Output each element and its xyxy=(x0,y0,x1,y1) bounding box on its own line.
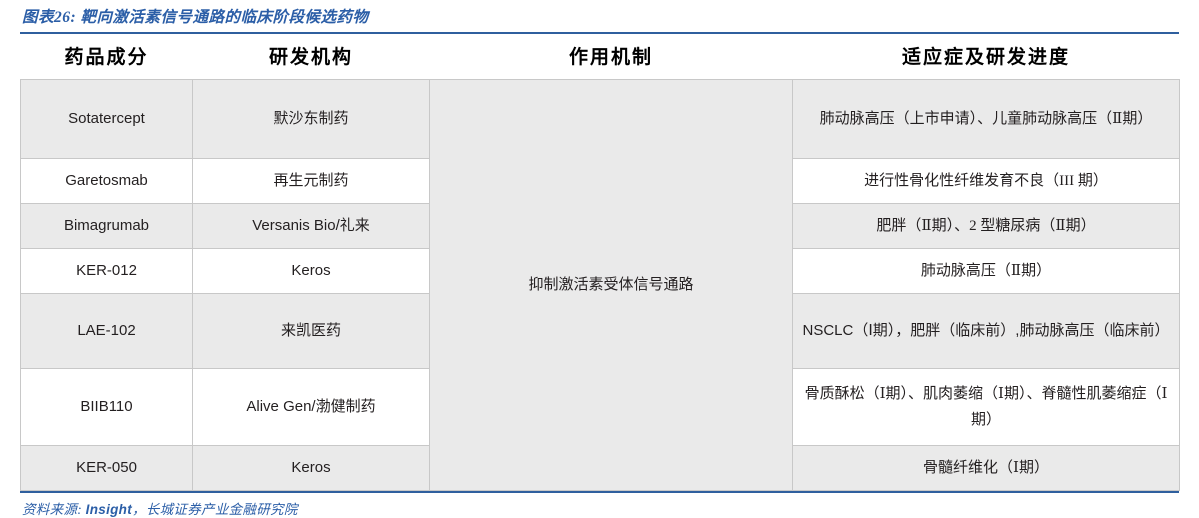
source-suffix: ，长城证券产业金融研究院 xyxy=(132,502,298,517)
cell-company: Keros xyxy=(193,249,430,294)
cell-drug: BIIB110 xyxy=(21,369,193,446)
cell-drug: Sotatercept xyxy=(21,80,193,159)
table-header-row: 药品成分 研发机构 作用机制 适应症及研发进度 xyxy=(21,34,1180,80)
column-header-drug: 药品成分 xyxy=(21,34,193,80)
cell-company: 再生元制药 xyxy=(193,159,430,204)
figure-caption: 图表26: 靶向激活素信号通路的临床阶段候选药物 xyxy=(20,0,1179,28)
cell-indication: 肺动脉高压（上市申请）、儿童肺动脉高压（Ⅱ期） xyxy=(793,80,1180,159)
cell-company: 来凯医药 xyxy=(193,294,430,369)
cell-drug: LAE-102 xyxy=(21,294,193,369)
cell-company: Alive Gen/渤健制药 xyxy=(193,369,430,446)
source-prefix: 资料来源: xyxy=(22,502,86,517)
column-header-indication: 适应症及研发进度 xyxy=(793,34,1180,80)
cell-indication: 进行性骨化性纤维发育不良（III 期） xyxy=(793,159,1180,204)
cell-indication: NSCLC（Ⅰ期），肥胖（临床前）,肺动脉高压（临床前） xyxy=(793,294,1180,369)
column-header-mechanism: 作用机制 xyxy=(430,34,793,80)
cell-indication: 骨髓纤维化（Ⅰ期） xyxy=(793,446,1180,491)
cell-company: 默沙东制药 xyxy=(193,80,430,159)
table-row: Sotatercept 默沙东制药 抑制激活素受体信号通路 肺动脉高压（上市申请… xyxy=(21,80,1180,159)
cell-indication: 骨质酥松（Ⅰ期）、肌肉萎缩（Ⅰ期）、脊髓性肌萎缩症（Ⅰ期） xyxy=(793,369,1180,446)
cell-drug: Bimagrumab xyxy=(21,204,193,249)
cell-drug: KER-050 xyxy=(21,446,193,491)
source-line: 资料来源: Insight，长城证券产业金融研究院 xyxy=(20,493,1179,518)
cell-mechanism-merged: 抑制激活素受体信号通路 xyxy=(430,80,793,491)
cell-drug: Garetosmab xyxy=(21,159,193,204)
cell-company: Versanis Bio/礼来 xyxy=(193,204,430,249)
column-header-company: 研发机构 xyxy=(193,34,430,80)
cell-indication: 肺动脉高压（Ⅱ期） xyxy=(793,249,1180,294)
cell-indication: 肥胖（Ⅱ期）、2 型糖尿病（Ⅱ期） xyxy=(793,204,1180,249)
source-name: Insight xyxy=(86,502,132,517)
cell-company: Keros xyxy=(193,446,430,491)
cell-drug: KER-012 xyxy=(21,249,193,294)
candidate-drugs-table: 药品成分 研发机构 作用机制 适应症及研发进度 Sotatercept 默沙东制… xyxy=(20,34,1180,491)
figure-page: 图表26: 靶向激活素信号通路的临床阶段候选药物 药品成分 研发机构 作用机制 … xyxy=(0,0,1199,504)
